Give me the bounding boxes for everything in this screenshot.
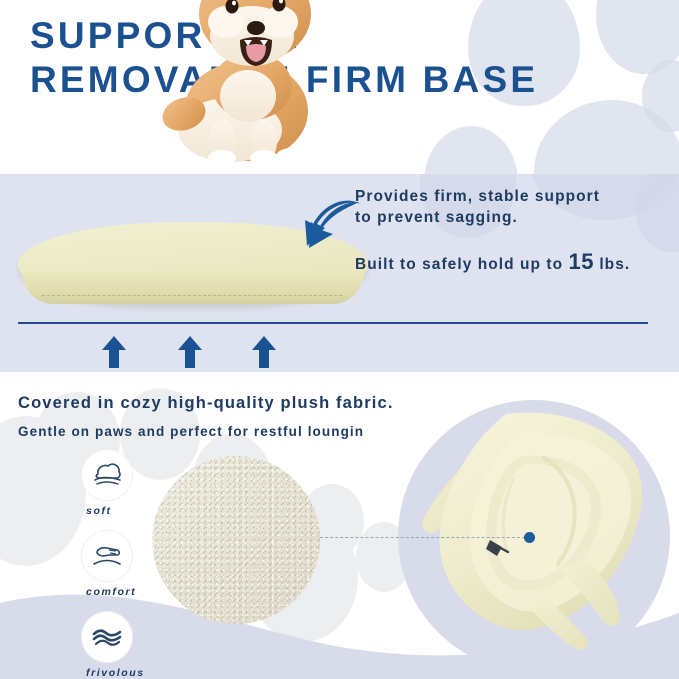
support-arrow-up-icon: [178, 336, 202, 368]
hand-touch-surface-icon: [82, 531, 132, 581]
callout-support-line-1: Provides firm, stable support: [355, 186, 675, 207]
cloud-pillow-icon: [82, 450, 132, 500]
firm-base-stitching: [42, 292, 342, 296]
connector-dashed-line: [320, 537, 530, 539]
callout-weight-number: 15: [568, 249, 593, 274]
feature-item-soft[interactable]: soft: [76, 450, 196, 517]
puppy-photo: [160, 0, 350, 168]
plush-heading-block: Covered in cozy high-quality plush fabri…: [18, 394, 394, 439]
feature-list: soft comfort: [76, 450, 196, 679]
callout-support-line-2: to prevent sagging.: [355, 207, 675, 228]
callout-weight-prefix: Built to safely hold up to: [355, 256, 563, 273]
plush-heading: Covered in cozy high-quality plush fabri…: [18, 394, 394, 413]
product-infographic: SUPPORTIVE REMOVABLE FIRM BASE: [0, 0, 679, 679]
feature-item-comfort[interactable]: comfort: [76, 531, 196, 598]
feature-item-frivolous[interactable]: frivolous: [76, 612, 196, 679]
callout-support-text: Provides firm, stable support to prevent…: [355, 186, 675, 228]
paw-decoration-icon: [424, 126, 518, 174]
plush-subheading: Gentle on paws and perfect for restful l…: [18, 424, 394, 439]
support-arrow-up-icon: [252, 336, 276, 368]
support-arrow-up-icon: [102, 336, 126, 368]
feature-label-frivolous: frivolous: [86, 667, 196, 679]
plush-fabric-section: Covered in cozy high-quality plush fabri…: [0, 372, 679, 679]
callout-weight-suffix: lbs.: [599, 256, 630, 273]
firm-base-pad-side: [22, 272, 364, 304]
connector-endpoint-dot: [524, 532, 535, 543]
callout-weight-text: Built to safely hold up to 15 lbs.: [355, 251, 675, 275]
wavy-fluff-icon: [82, 612, 132, 662]
feature-label-comfort: comfort: [86, 586, 196, 598]
base-support-line: [18, 322, 648, 324]
feature-label-soft: soft: [86, 505, 196, 517]
